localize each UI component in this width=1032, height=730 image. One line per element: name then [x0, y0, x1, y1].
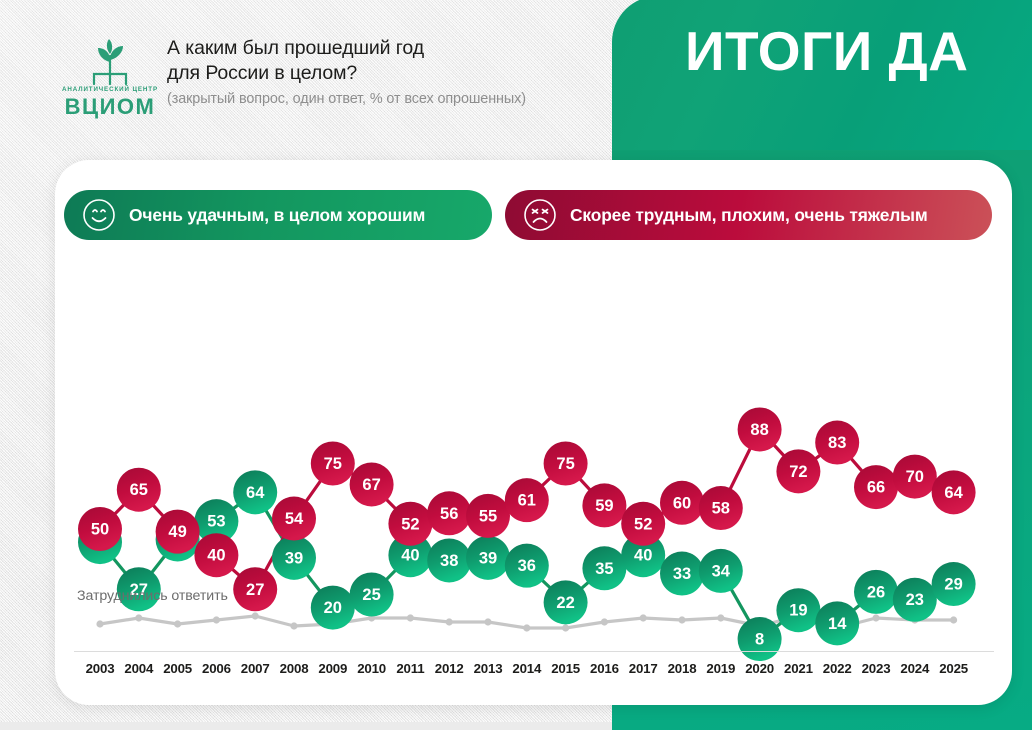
svg-text:25: 25 — [362, 586, 380, 604]
sprout-tree-icon — [58, 38, 162, 88]
data-bubble: 26 — [854, 570, 898, 614]
data-bubble: 50 — [78, 507, 122, 551]
data-bubble: 54 — [272, 497, 316, 541]
header: АНАЛИТИЧЕСКИЙ ЦЕНТР ВЦИОМ А каким был пр… — [0, 0, 612, 160]
svg-text:52: 52 — [401, 515, 419, 533]
x-axis-year-2003: 2003 — [78, 661, 122, 676]
svg-text:39: 39 — [479, 549, 497, 567]
x-axis-year-2019: 2019 — [699, 661, 743, 676]
svg-text:19: 19 — [789, 602, 807, 620]
axis-rule — [74, 651, 994, 652]
data-bubble: 14 — [815, 601, 859, 645]
data-bubble: 70 — [893, 455, 937, 499]
svg-text:59: 59 — [595, 497, 613, 515]
data-bubble: 40 — [194, 533, 238, 577]
data-bubble: 56 — [427, 491, 471, 535]
svg-text:70: 70 — [906, 468, 924, 486]
data-bubble: 58 — [699, 486, 743, 530]
data-bubble: 66 — [854, 465, 898, 509]
svg-text:38: 38 — [440, 552, 458, 570]
data-bubble: 38 — [427, 538, 471, 582]
svg-text:34: 34 — [712, 562, 731, 580]
svg-text:40: 40 — [634, 547, 652, 565]
data-bubble: 75 — [311, 442, 355, 486]
data-bubble: 39 — [466, 536, 510, 580]
svg-text:33: 33 — [673, 565, 691, 583]
x-axis-year-2015: 2015 — [544, 661, 588, 676]
svg-text:49: 49 — [168, 523, 186, 541]
data-bubble: 61 — [505, 478, 549, 522]
data-bubble: 83 — [815, 421, 859, 465]
x-axis-year-2006: 2006 — [194, 661, 238, 676]
data-bubble: 64 — [233, 470, 277, 514]
data-bubble: 35 — [582, 546, 626, 590]
green-header-banner: ИТОГИ ДА — [612, 0, 1032, 156]
svg-text:20: 20 — [324, 599, 342, 617]
x-axis-year-2007: 2007 — [233, 661, 277, 676]
banner-title: ИТОГИ ДА — [685, 24, 968, 79]
data-bubble: 49 — [156, 510, 200, 554]
x-axis-year-2005: 2005 — [156, 661, 200, 676]
data-bubble: 39 — [272, 536, 316, 580]
data-bubble: 55 — [466, 494, 510, 538]
x-axis-year-2023: 2023 — [854, 661, 898, 676]
svg-text:27: 27 — [246, 581, 264, 599]
svg-text:56: 56 — [440, 505, 458, 523]
data-bubble: 75 — [544, 442, 588, 486]
svg-text:58: 58 — [712, 500, 730, 518]
svg-text:26: 26 — [867, 583, 885, 601]
svg-text:23: 23 — [906, 591, 924, 609]
svg-text:14: 14 — [828, 615, 847, 633]
x-axis-year-2017: 2017 — [621, 661, 665, 676]
x-axis-year-2009: 2009 — [311, 661, 355, 676]
data-bubble: 25 — [350, 573, 394, 617]
svg-text:36: 36 — [518, 557, 536, 575]
data-bubble: 60 — [660, 481, 704, 525]
data-bubble: 72 — [776, 449, 820, 493]
x-axis-year-2020: 2020 — [738, 661, 782, 676]
data-bubble: 29 — [932, 562, 976, 606]
svg-text:61: 61 — [518, 492, 536, 510]
svg-text:39: 39 — [285, 549, 303, 567]
x-axis-year-2018: 2018 — [660, 661, 704, 676]
x-axis-year-2008: 2008 — [272, 661, 316, 676]
svg-text:40: 40 — [207, 547, 225, 565]
svg-text:83: 83 — [828, 434, 846, 452]
x-axis-year-labels: 2003200420052006200720082009201020112012… — [55, 661, 1012, 685]
logo-caption: АНАЛИТИЧЕСКИЙ ЦЕНТР — [58, 86, 162, 93]
data-bubble: 34 — [699, 549, 743, 593]
svg-text:22: 22 — [556, 594, 574, 612]
question-block: А каким был прошедший год для России в ц… — [167, 36, 597, 108]
svg-text:55: 55 — [479, 507, 497, 525]
data-bubble: 22 — [544, 580, 588, 624]
svg-text:75: 75 — [324, 455, 342, 473]
svg-text:53: 53 — [207, 513, 225, 531]
svg-text:64: 64 — [246, 484, 265, 502]
dont-know-label: Затруднились ответить — [77, 588, 228, 604]
svg-text:40: 40 — [401, 547, 419, 565]
question-line-2: для России в целом? — [167, 61, 597, 86]
bubble-line-chart: 4527465364392025403839362235403334819142… — [55, 160, 1012, 705]
svg-text:66: 66 — [867, 479, 885, 497]
x-axis-year-2025: 2025 — [932, 661, 976, 676]
data-bubble: 23 — [893, 578, 937, 622]
data-bubble: 67 — [350, 462, 394, 506]
x-axis-year-2013: 2013 — [466, 661, 510, 676]
chart-card: Очень удачным, в целом хорошим Скорее тр… — [55, 160, 1012, 705]
x-axis-year-2011: 2011 — [388, 661, 432, 676]
x-axis-year-2022: 2022 — [815, 661, 859, 676]
svg-text:65: 65 — [130, 481, 148, 499]
svg-text:54: 54 — [285, 510, 304, 528]
svg-text:72: 72 — [789, 463, 807, 481]
x-axis-year-2014: 2014 — [505, 661, 549, 676]
x-axis-year-2024: 2024 — [893, 661, 937, 676]
svg-text:8: 8 — [755, 631, 764, 649]
svg-text:64: 64 — [944, 484, 963, 502]
svg-text:29: 29 — [944, 576, 962, 594]
logo-wordmark: ВЦИОМ — [58, 94, 162, 120]
question-line-1: А каким был прошедший год — [167, 36, 597, 61]
svg-text:67: 67 — [362, 476, 380, 494]
svg-text:60: 60 — [673, 494, 691, 512]
data-bubble: 19 — [776, 588, 820, 632]
data-bubble: 52 — [621, 502, 665, 546]
svg-text:35: 35 — [595, 560, 613, 578]
data-bubble: 8 — [738, 617, 782, 661]
x-axis-year-2012: 2012 — [427, 661, 471, 676]
data-bubble: 52 — [388, 502, 432, 546]
x-axis-year-2004: 2004 — [117, 661, 161, 676]
svg-text:50: 50 — [91, 521, 109, 539]
question-subtitle: (закрытый вопрос, один ответ, % от всех … — [167, 91, 597, 108]
x-axis-year-2010: 2010 — [350, 661, 394, 676]
data-bubble: 65 — [117, 468, 161, 512]
vciom-logo: АНАЛИТИЧЕСКИЙ ЦЕНТР ВЦИОМ — [58, 38, 162, 116]
x-axis-year-2016: 2016 — [582, 661, 626, 676]
svg-text:75: 75 — [556, 455, 574, 473]
data-bubble: 27 — [233, 567, 277, 611]
x-axis-year-2021: 2021 — [776, 661, 820, 676]
data-bubble: 20 — [311, 586, 355, 630]
data-bubble: 33 — [660, 552, 704, 596]
svg-text:88: 88 — [750, 421, 768, 439]
svg-text:52: 52 — [634, 515, 652, 533]
data-bubble: 88 — [738, 407, 782, 451]
data-bubble: 59 — [582, 483, 626, 527]
data-bubble: 36 — [505, 544, 549, 588]
data-bubble: 64 — [932, 470, 976, 514]
